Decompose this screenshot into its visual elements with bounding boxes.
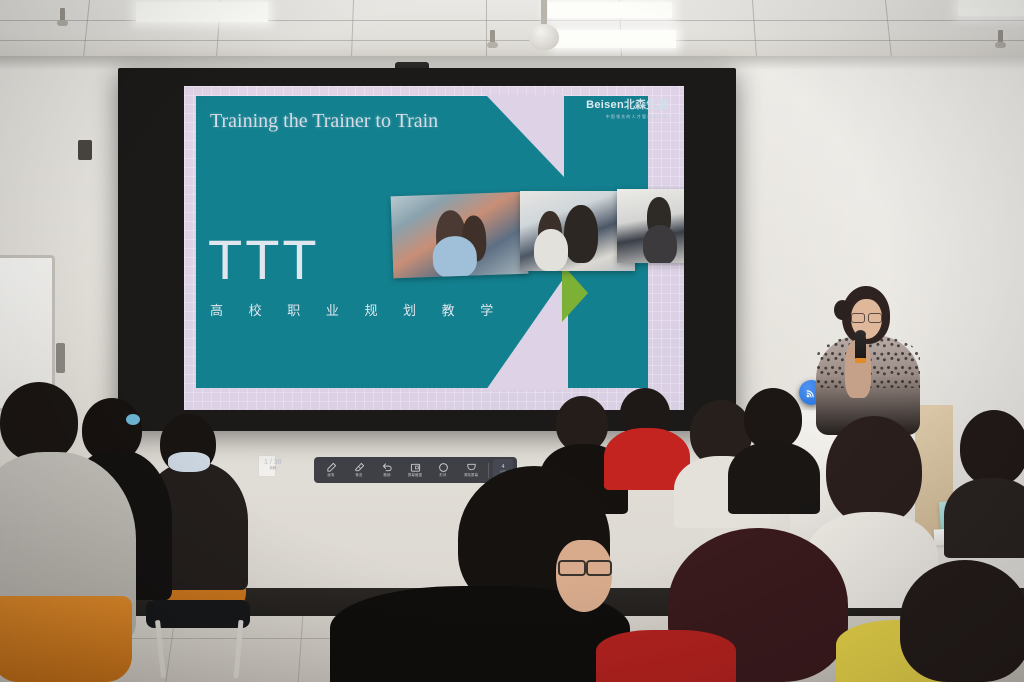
logo-brand-en: Beisen	[586, 99, 624, 111]
audience-head	[744, 388, 802, 450]
screenshot-icon	[410, 462, 421, 473]
microphone-band	[855, 358, 866, 363]
arrow-notch-bottom	[486, 272, 568, 390]
sprinkler-head	[998, 30, 1003, 44]
undo-icon	[382, 462, 393, 473]
chair-seat	[146, 600, 250, 628]
eraser-tool-label: 橡皮	[355, 474, 362, 477]
ceiling-light-panel	[548, 2, 672, 18]
audience-head	[900, 560, 1024, 682]
ceiling-light-panel	[958, 0, 1024, 16]
slide-counter-label: 页码	[269, 467, 276, 470]
pen-tool-label: 画笔	[327, 474, 334, 477]
arrow-notch-top	[486, 95, 564, 177]
audience-head	[960, 410, 1024, 486]
classroom-photo-scene: Training the Trainer to Train TTT 高 校 职 …	[0, 0, 1024, 682]
ceiling-light-panel	[136, 2, 268, 22]
slide-subtitle: 高 校 职 业 规 划 教 学	[210, 300, 504, 319]
screenshot-tool-label: 屏幕截图	[408, 474, 422, 477]
annotation-toolbar[interactable]: 画笔 橡皮 撤销 屏幕	[314, 457, 517, 483]
eraser-icon	[354, 462, 365, 473]
ceiling-light-panel	[554, 30, 676, 48]
beisen-logo: Beisen北森生涯 中国领先的人才管理云平台	[586, 96, 668, 120]
audience-face	[556, 540, 612, 612]
undo-tool[interactable]: 撤销	[374, 458, 400, 482]
projector-mount	[541, 0, 547, 26]
sprinkler-head	[60, 8, 65, 22]
suspended-ceiling	[0, 0, 1024, 58]
audience-head	[0, 382, 78, 462]
undo-tool-label: 撤销	[383, 474, 390, 477]
toolbar-divider	[488, 463, 489, 478]
eraser-tool[interactable]: 橡皮	[346, 458, 372, 482]
photo-collage	[392, 189, 684, 281]
door-handle[interactable]	[56, 343, 65, 373]
audience-body	[944, 478, 1024, 558]
collage-photo-3	[617, 189, 684, 263]
pen-tool[interactable]: 画笔	[318, 458, 344, 482]
audience-scarf	[596, 630, 736, 682]
wall-mounted-display[interactable]: Training the Trainer to Train TTT 高 校 职 …	[118, 68, 736, 431]
slide-canvas[interactable]: Training the Trainer to Train TTT 高 校 职 …	[184, 86, 684, 410]
ceiling-speaker	[529, 24, 559, 50]
glasses-icon	[851, 313, 882, 321]
slide-acronym: TTT	[208, 232, 320, 288]
glasses-icon	[558, 560, 612, 572]
screenshot-tool[interactable]: 屏幕截图	[402, 458, 428, 482]
slide-counter-value: 1 / 38	[264, 459, 282, 466]
clear-tool-label: 清除屏幕	[464, 474, 478, 477]
logo-tagline: 中国领先的人才管理云平台	[586, 114, 668, 120]
wall-speaker-icon	[78, 140, 92, 160]
audience-collar	[168, 452, 210, 472]
audience-head	[826, 416, 922, 526]
logo-brand-cn: 北森生涯	[624, 99, 668, 111]
shape-tool-label: 形状	[439, 474, 446, 477]
circle-shape-icon	[438, 462, 449, 473]
clear-screen-icon	[466, 462, 477, 473]
slide-title: Training the Trainer to Train	[210, 108, 445, 135]
audience-body	[728, 442, 820, 514]
chair-back	[0, 596, 132, 682]
clear-tool[interactable]: 清除屏幕	[458, 458, 484, 482]
collage-photo-1	[391, 192, 529, 279]
slide-counter: 1 / 38 页码	[264, 459, 282, 470]
shape-tool[interactable]: 形状	[430, 458, 456, 482]
sprinkler-head	[490, 30, 495, 44]
pen-icon	[326, 462, 337, 473]
hair-clip	[126, 414, 140, 425]
presenter-hair-bun	[834, 300, 851, 320]
